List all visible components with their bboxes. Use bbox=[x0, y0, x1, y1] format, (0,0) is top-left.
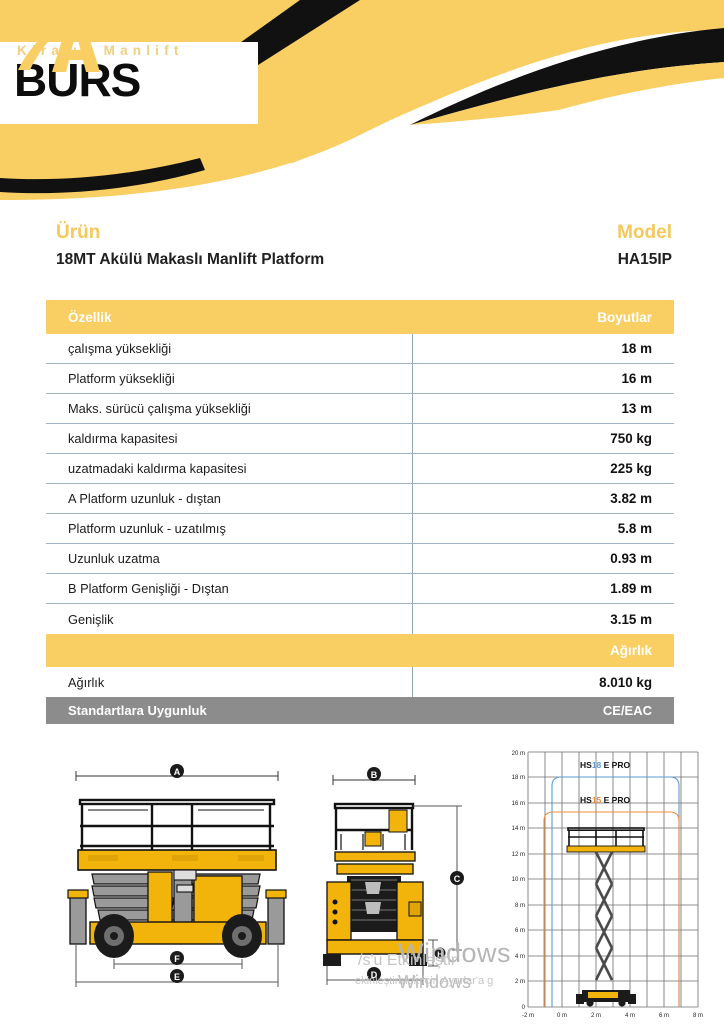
row-feature: Platform uzunluk - uzatılmış bbox=[46, 514, 412, 543]
table-row: Ağırlık 8.010 kg bbox=[46, 667, 674, 697]
svg-text:6 m: 6 m bbox=[515, 928, 525, 934]
table-row: Uzunluk uzatma 0.93 m bbox=[46, 544, 674, 574]
chart-x-ticks: -2 m 0 m 2 m 4 m 6 m 8 m bbox=[522, 1013, 703, 1019]
svg-text:2 m: 2 m bbox=[591, 1013, 601, 1019]
svg-text:F: F bbox=[174, 954, 180, 964]
model-value: HA15IP bbox=[617, 251, 672, 269]
product-right: Model HA15IP bbox=[617, 222, 672, 269]
legend-hs18: HS18 E PRO bbox=[580, 760, 630, 770]
svg-text:A: A bbox=[174, 767, 181, 777]
product-header: Ürün 18MT Akülü Makaslı Manlift Platform… bbox=[56, 222, 672, 269]
column-divider bbox=[412, 667, 413, 697]
column-divider bbox=[412, 514, 413, 543]
table-row: B Platform Genişliği - Dıştan 1.89 m bbox=[46, 574, 674, 604]
header-dimensions: Boyutlar bbox=[412, 300, 674, 334]
row-value: 18 m bbox=[412, 334, 674, 363]
table-row: Maks. sürücü çalışma yüksekliği 13 m bbox=[46, 394, 674, 424]
working-envelope-chart: 0 2 m 4 m 6 m 8 m 10 m 12 m 14 m 16 m 18… bbox=[492, 742, 714, 1024]
standards-label: Standartlara Uygunluk bbox=[46, 697, 412, 724]
product-label: Ürün bbox=[56, 222, 324, 244]
table-row: uzatmadaki kaldırma kapasitesi 225 kg bbox=[46, 454, 674, 484]
chart-grid bbox=[528, 752, 698, 1007]
svg-text:14 m: 14 m bbox=[512, 826, 525, 832]
table-row: çalışma yüksekliği 18 m bbox=[46, 334, 674, 364]
table-row: Platform uzunluk - uzatılmış 5.8 m bbox=[46, 514, 674, 544]
row-feature: Platform yüksekliği bbox=[46, 364, 412, 393]
product-left: Ürün 18MT Akülü Makaslı Manlift Platform bbox=[56, 222, 324, 269]
row-value: 5.8 m bbox=[412, 514, 674, 543]
standards-row: Standartlara Uygunluk CE/EAC bbox=[46, 697, 674, 724]
column-divider bbox=[412, 334, 413, 363]
svg-text:C: C bbox=[454, 874, 461, 884]
column-divider bbox=[412, 574, 413, 603]
row-value: 1.89 m bbox=[412, 574, 674, 603]
weight-section-header: Ağırlık bbox=[46, 634, 674, 667]
svg-text:4 m: 4 m bbox=[515, 954, 525, 960]
table-row: kaldırma kapasitesi 750 kg bbox=[46, 424, 674, 454]
model-label: Model bbox=[617, 222, 672, 244]
header-banner: Kiralık Manlift BURS bbox=[0, 0, 724, 205]
row-feature: çalışma yüksekliği bbox=[46, 334, 412, 363]
row-feature: uzatmadaki kaldırma kapasitesi bbox=[46, 454, 412, 483]
svg-text:E: E bbox=[174, 972, 180, 982]
svg-text:8 m: 8 m bbox=[515, 903, 525, 909]
svg-text:0: 0 bbox=[522, 1005, 526, 1011]
row-feature: A Platform uzunluk - dıştan bbox=[46, 484, 412, 513]
column-divider bbox=[412, 484, 413, 513]
row-value: 8.010 kg bbox=[412, 667, 674, 697]
table-row: Genişlik 3.15 m bbox=[46, 604, 674, 634]
svg-text:0 m: 0 m bbox=[557, 1013, 567, 1019]
svg-text:20 m: 20 m bbox=[512, 751, 525, 757]
product-name: 18MT Akülü Makaslı Manlift Platform bbox=[56, 251, 324, 269]
svg-text:4 m: 4 m bbox=[625, 1013, 635, 1019]
row-feature: Maks. sürücü çalışma yüksekliği bbox=[46, 394, 412, 423]
row-value: 13 m bbox=[412, 394, 674, 423]
column-divider bbox=[412, 394, 413, 423]
column-divider bbox=[412, 364, 413, 393]
svg-text:6 m: 6 m bbox=[659, 1013, 669, 1019]
column-divider bbox=[412, 454, 413, 483]
column-divider bbox=[412, 604, 413, 634]
datasheet-page: Kiralık Manlift BURS Ürün 18MT Akülü Mak… bbox=[0, 0, 724, 1024]
svg-text:16 m: 16 m bbox=[512, 801, 525, 807]
row-value: 16 m bbox=[412, 364, 674, 393]
row-feature: B Platform Genişliği - Dıştan bbox=[46, 574, 412, 603]
svg-text:2 m: 2 m bbox=[515, 979, 525, 985]
svg-text:18 m: 18 m bbox=[512, 775, 525, 781]
row-feature: Ağırlık bbox=[46, 667, 412, 697]
svg-text:12 m: 12 m bbox=[512, 852, 525, 858]
column-divider bbox=[412, 424, 413, 453]
row-value: 0.93 m bbox=[412, 544, 674, 573]
row-value: 225 kg bbox=[412, 454, 674, 483]
weight-section-label: Ağırlık bbox=[412, 634, 674, 667]
standards-value: CE/EAC bbox=[412, 697, 674, 724]
chart-legend: HS18 E PRO HS15 E PRO bbox=[580, 760, 630, 805]
svg-text:8 m: 8 m bbox=[693, 1013, 703, 1019]
row-feature: Genişlik bbox=[46, 604, 412, 634]
row-value: 750 kg bbox=[412, 424, 674, 453]
svg-text:-2 m: -2 m bbox=[522, 1013, 534, 1019]
column-divider bbox=[412, 544, 413, 573]
chart-y-ticks: 0 2 m 4 m 6 m 8 m 10 m 12 m 14 m 16 m 18… bbox=[512, 751, 526, 1011]
watermark-line-3: /s'u Etkinleştir bbox=[358, 952, 456, 970]
row-value: 3.15 m bbox=[412, 604, 674, 634]
row-feature: kaldırma kapasitesi bbox=[46, 424, 412, 453]
row-feature: Uzunluk uzatma bbox=[46, 544, 412, 573]
svg-text:B: B bbox=[371, 770, 378, 780]
weight-section-spacer bbox=[46, 634, 412, 667]
svg-text:10 m: 10 m bbox=[512, 877, 525, 883]
table-row: A Platform uzunluk - dıştan 3.82 m bbox=[46, 484, 674, 514]
legend-hs15: HS15 E PRO bbox=[580, 795, 630, 805]
header-feature: Özellik bbox=[46, 300, 412, 334]
spec-table: Özellik Boyutlar çalışma yüksekliği 18 m… bbox=[46, 300, 674, 724]
row-value: 3.82 m bbox=[412, 484, 674, 513]
watermark-line-4: ekinleştirmek için Ayarlar'a g bbox=[355, 975, 493, 987]
a-wave-icon bbox=[0, 0, 110, 76]
table-row: Platform yüksekliği 16 m bbox=[46, 364, 674, 394]
table-header-row: Özellik Boyutlar bbox=[46, 300, 674, 334]
scissor-lift-side-view: A bbox=[52, 754, 300, 989]
